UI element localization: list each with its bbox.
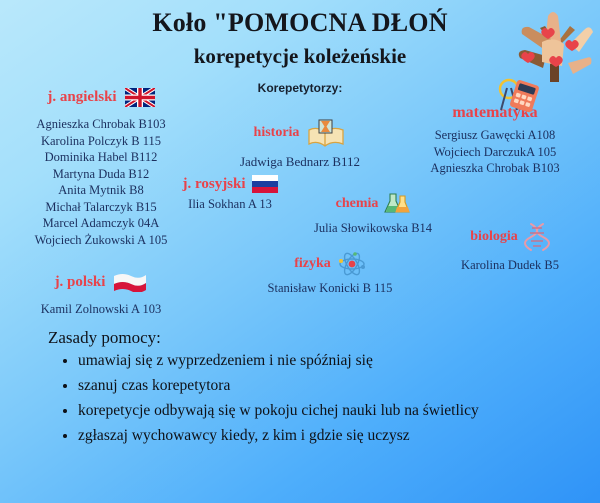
rule-item: korepetycje odbywają się w pokoju cichej… xyxy=(78,398,586,423)
tutor-list-historia: Jadwiga Bednarz B112 xyxy=(210,154,390,171)
rules-section: Zasady pomocy: umawiaj się z wyprzedzeni… xyxy=(48,328,586,448)
tutor-list-biologia: Karolina Dudek B5 xyxy=(424,257,596,274)
tutor-name: Julia Słowikowska B14 xyxy=(314,220,432,237)
subject-block-fizyka: fizyka Stanisław Konicki B 115 xyxy=(240,252,420,297)
tutor-name: Agnieszka Chrobak B103 xyxy=(430,160,559,177)
subject-block-biologia: biologia Karolina Dudek B5 xyxy=(424,222,596,274)
tutor-name: Michał Talarczyk B15 xyxy=(45,199,156,216)
tutor-name: Karolina Dudek B5 xyxy=(461,257,559,274)
tutor-name: Jadwiga Bednarz B112 xyxy=(240,154,360,171)
tutor-name: Wojciech Żukowski A 105 xyxy=(35,232,168,249)
tutor-list-fizyka: Stanisław Konicki B 115 xyxy=(240,280,420,297)
russia-flag-icon xyxy=(252,175,278,193)
rules-list: umawiaj się z wyprzedzeniem i nie spóźni… xyxy=(48,348,586,448)
rule-item: umawiaj się z wyprzedzeniem i nie spóźni… xyxy=(78,348,586,373)
rule-item: szanuj czas korepetytora xyxy=(78,373,586,398)
subject-label-biologia: biologia xyxy=(470,229,517,245)
rules-title: Zasady pomocy: xyxy=(48,328,586,348)
rule-item: zgłaszaj wychowawcy kiedy, z kim i gdzie… xyxy=(78,423,586,448)
subject-label-rosyjski: j. rosyjski xyxy=(182,176,245,193)
tutor-name: Dominika Habel B112 xyxy=(45,149,158,166)
subject-label-fizyka: fizyka xyxy=(294,256,331,272)
tutor-list-matematyka: Sergiusz Gawęcki A108 Wojciech DarczukA … xyxy=(392,127,598,177)
open-book-hourglass-icon xyxy=(306,118,346,148)
subject-block-angielski: j. angielski Agnieszka Chrobak B103 Karo… xyxy=(8,88,194,248)
page-subtitle: korepetycje koleżeńskie xyxy=(0,44,600,69)
tutor-name: Stanisław Konicki B 115 xyxy=(268,280,393,297)
subject-block-polski: j. polski Kamil Zolnowski A 103 xyxy=(8,272,194,318)
tutor-name: Agnieszka Chrobak B103 xyxy=(36,116,165,133)
subject-block-rosyjski: j. rosyjski Ilia Sokhan A 13 xyxy=(150,175,310,213)
tutor-list-rosyjski: Ilia Sokhan A 13 xyxy=(150,196,310,213)
calculator-compass-icon xyxy=(496,76,542,116)
tutor-list-polski: Kamil Zolnowski A 103 xyxy=(8,301,194,318)
dna-helix-icon xyxy=(524,222,550,252)
subject-block-historia: historia Jadwiga Bednarz B112 xyxy=(210,118,390,171)
tutor-name: Martyna Duda B12 xyxy=(53,166,150,183)
subject-label-angielski: j. angielski xyxy=(47,89,116,106)
poland-flag-icon xyxy=(113,272,147,292)
chemistry-flask-icon xyxy=(384,192,410,216)
page-title: Koło "POMOCNA DŁOŃ xyxy=(0,8,600,38)
tutor-name: Sergiusz Gawęcki A108 xyxy=(435,127,556,144)
subject-label-chemia: chemia xyxy=(336,196,379,212)
subject-block-matematyka: matematyka Sergiusz Gawęcki A108 Wojciec… xyxy=(392,78,598,177)
helping-hands-hearts-icon xyxy=(512,6,596,82)
subject-label-polski: j. polski xyxy=(55,274,106,291)
tutor-name: Wojciech DarczukA 105 xyxy=(434,144,557,161)
tutor-name: Anita Mytnik B8 xyxy=(58,182,143,199)
tutor-name: Ilia Sokhan A 13 xyxy=(188,196,272,213)
tutor-name: Kamil Zolnowski A 103 xyxy=(41,301,162,318)
tutor-name: Karolina Polczyk B 115 xyxy=(41,133,161,150)
poster-canvas: Koło "POMOCNA DŁOŃ korepetycje koleżeńsk… xyxy=(0,0,600,503)
tutor-name: Marcel Adamczyk 04A xyxy=(43,215,160,232)
subject-label-historia: historia xyxy=(254,125,300,141)
atom-icon xyxy=(338,252,366,276)
uk-flag-icon xyxy=(125,88,155,107)
